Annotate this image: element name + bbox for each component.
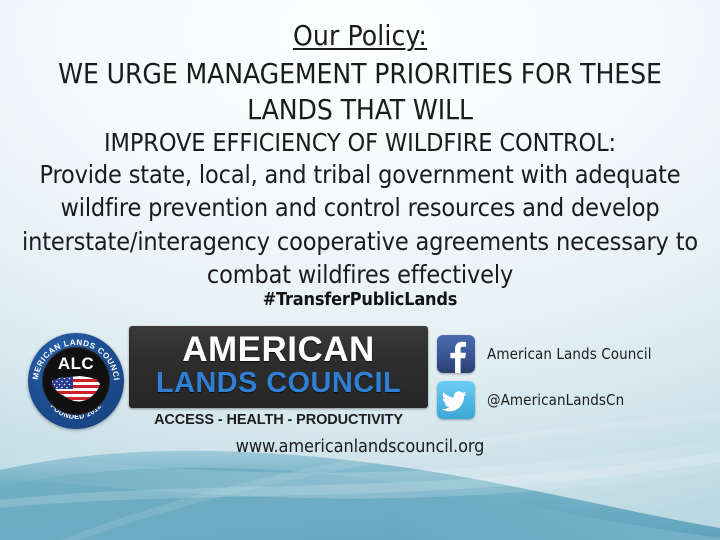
wordmark-tagline: ACCESS - HEALTH - PRODUCTIVITY — [129, 412, 428, 428]
wordmark-line-american: AMERICAN — [129, 332, 428, 367]
usa-flag-map-icon — [49, 373, 103, 405]
twitter-handle-label[interactable]: @AmericanLandsCn — [487, 391, 624, 409]
twitter-row[interactable]: @AmericanLandsCn — [437, 381, 624, 419]
hashtag: #TransferPublicLands — [0, 289, 720, 310]
alc-seal-logo: AMERICAN LANDS COUNCIL FOUNDED 2012 ALC — [28, 333, 124, 429]
wordmark-line-lands-council: LANDS COUNCIL — [129, 369, 428, 398]
twitter-icon[interactable] — [437, 381, 475, 419]
facebook-row[interactable]: American Lands Council — [437, 335, 652, 373]
facebook-icon[interactable] — [437, 335, 475, 373]
american-lands-council-wordmark: AMERICAN LANDS COUNCIL ACCESS - HEALTH -… — [129, 326, 428, 434]
seal-inner-disc: ALC — [42, 347, 110, 415]
headline: WE URGE MANAGEMENT PRIORITIES FOR THESE … — [22, 56, 698, 128]
body-paragraph: Provide state, local, and tribal governm… — [12, 158, 708, 291]
facebook-label[interactable]: American Lands Council — [487, 345, 652, 363]
seal-monogram: ALC — [42, 354, 110, 374]
policy-title: Our Policy: — [0, 21, 720, 51]
slide-canvas: Our Policy: WE URGE MANAGEMENT PRIORITIE… — [0, 0, 720, 540]
twitter-bird-glyph — [437, 381, 475, 419]
website-url[interactable]: www.americanlandscouncil.org — [0, 436, 720, 457]
wordmark-panel: AMERICAN LANDS COUNCIL — [129, 326, 428, 408]
policy-title-text: Our Policy: — [293, 19, 427, 52]
facebook-glyph — [437, 335, 475, 373]
logo-lockup: AMERICAN LANDS COUNCIL FOUNDED 2012 ALC — [28, 326, 428, 434]
subheadline: IMPROVE EFFICIENCY OF WILDFIRE CONTROL: — [18, 130, 702, 155]
